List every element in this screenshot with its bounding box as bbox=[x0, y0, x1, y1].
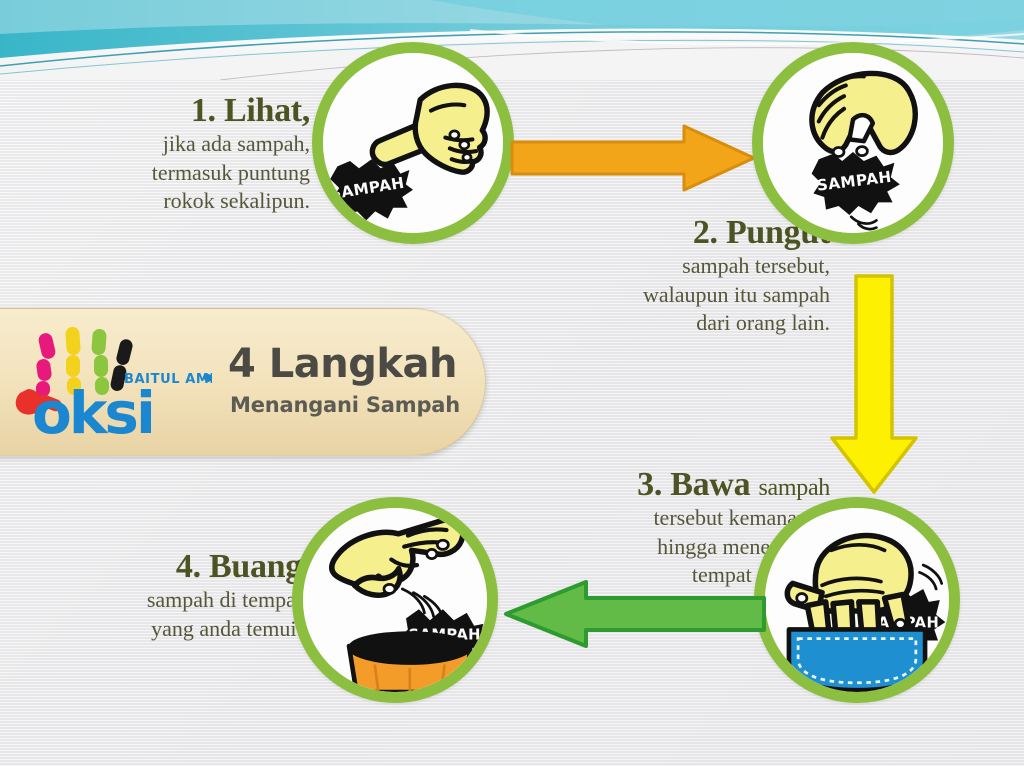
step-2-body-line: walaupun itu sampah bbox=[566, 281, 830, 310]
step-4-heading: 4. Buang bbox=[74, 548, 302, 586]
step-3-title: Bawa bbox=[670, 466, 750, 503]
banner-subtitle: Menangani Sampah bbox=[230, 393, 460, 417]
step-1-title-tail: , bbox=[302, 92, 310, 129]
step-2-body-line: dari orang lain. bbox=[566, 309, 830, 338]
brand-wordmark: oksi bbox=[32, 379, 153, 445]
step-3-number: 3. bbox=[637, 466, 662, 503]
step-2-body: sampah tersebut, walaupun itu sampah dar… bbox=[566, 252, 830, 338]
hand-picking-up-icon: SAMPAH bbox=[763, 53, 943, 233]
hand-dropping-litter-icon: SAMPAH bbox=[303, 508, 487, 692]
step-1-text: 1. Lihat, jika ada sampah, termasuk punt… bbox=[86, 92, 310, 216]
step-1-body: jika ada sampah, termasuk puntung rokok … bbox=[86, 130, 310, 216]
step-4-body-line: yang anda temui. bbox=[74, 615, 302, 644]
step-4-number: 4. bbox=[176, 548, 201, 585]
step-4-body: sampah di tempat yang anda temui. bbox=[74, 586, 302, 643]
step-3-illustration-circle: SAMPAH bbox=[754, 497, 960, 703]
step-4-title: Buang bbox=[209, 548, 302, 585]
trash-bin-icon bbox=[349, 631, 470, 692]
arrow-step1-to-step2 bbox=[508, 122, 758, 194]
step-2-body-line: sampah tersebut, bbox=[566, 252, 830, 281]
arrow-step3-to-step4 bbox=[500, 578, 768, 650]
arrow-step2-to-step3 bbox=[826, 272, 922, 496]
step-3-title-tail: sampah bbox=[758, 475, 830, 501]
step-4-text: 4. Buang sampah di tempat yang anda temu… bbox=[74, 548, 302, 643]
step-4-illustration-circle: SAMPAH bbox=[292, 497, 498, 703]
hand-pointing-icon: SAMPAH bbox=[323, 53, 503, 233]
logo-banner: BAITUL AMIN oksi 4 Langkah Menangani Sam… bbox=[0, 308, 486, 456]
step-1-heading: 1. Lihat, bbox=[86, 92, 310, 130]
step-1-illustration-circle: SAMPAH bbox=[312, 42, 514, 244]
step-1-body-line: jika ada sampah, bbox=[86, 130, 310, 159]
infographic-canvas: 1. Lihat, jika ada sampah, termasuk punt… bbox=[0, 0, 1024, 766]
pocket-shape bbox=[789, 629, 925, 690]
step-1-body-line: rokok sekalipun. bbox=[86, 187, 310, 216]
step-1-title: Lihat bbox=[224, 92, 302, 129]
step-2-illustration-circle: SAMPAH bbox=[752, 42, 954, 244]
banner-title: 4 Langkah bbox=[228, 341, 457, 387]
step-2-text: 2. Pungut sampah tersebut, walaupun itu … bbox=[566, 214, 830, 338]
step-3-heading: 3. Bawa sampah bbox=[540, 466, 830, 504]
oksi-handprint-logo-icon: BAITUL AMIN oksi bbox=[12, 321, 212, 445]
step-1-body-line: termasuk puntung bbox=[86, 159, 310, 188]
step-2-number: 2. bbox=[693, 214, 718, 251]
step-1-number: 1. bbox=[191, 92, 216, 129]
hand-in-pocket-icon: SAMPAH bbox=[765, 508, 949, 692]
step-4-body-line: sampah di tempat bbox=[74, 586, 302, 615]
